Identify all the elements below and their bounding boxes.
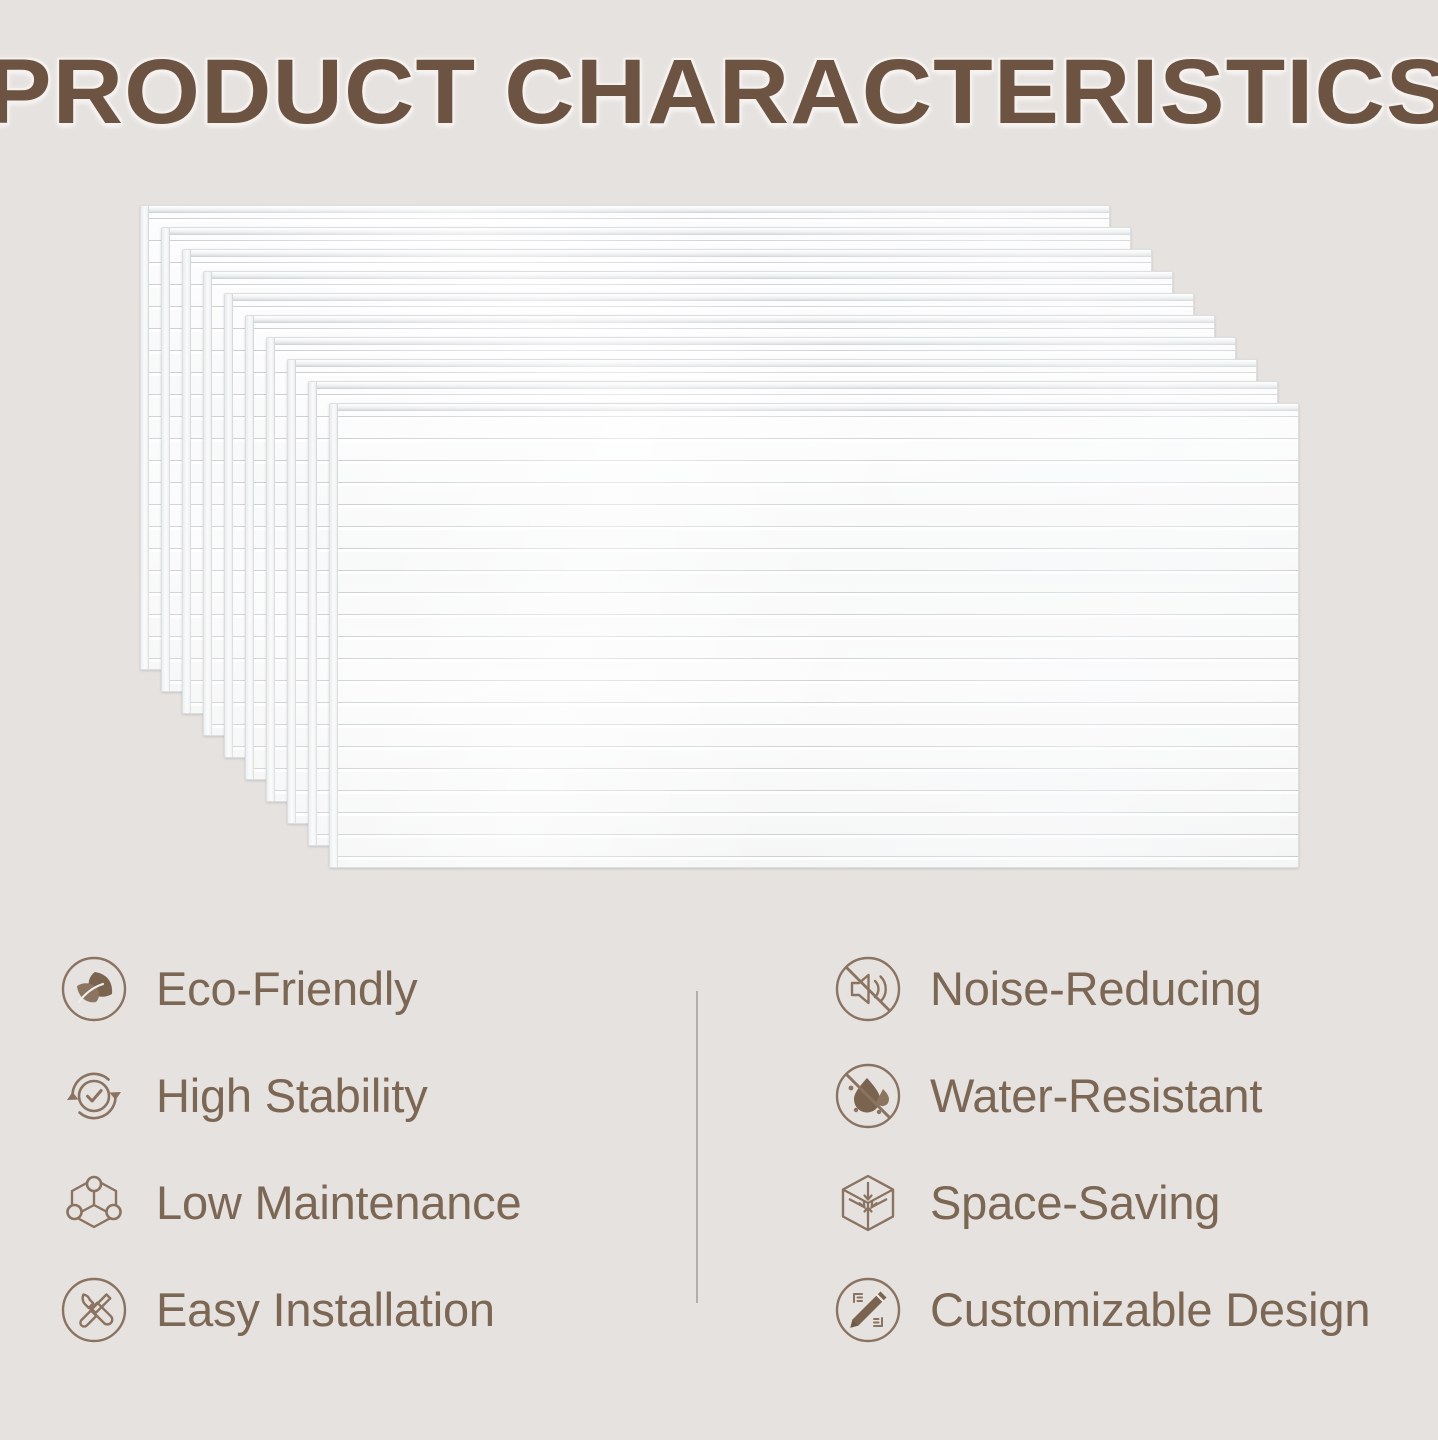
sheet-top-edge (246, 316, 1214, 323)
sheet-left-edge (330, 404, 338, 867)
tools-icon (58, 1274, 130, 1346)
sheet-top-edge (204, 272, 1172, 279)
feature-label: Low Maintenance (156, 1177, 521, 1229)
feature-item-high-stability: High Stability (58, 1042, 658, 1149)
product-image (0, 180, 1438, 880)
sheet-rib-texture (330, 404, 1298, 867)
product-sheet-front (329, 403, 1299, 868)
muted-speaker-icon (832, 953, 904, 1025)
molecule-icon (58, 1167, 130, 1239)
sheet-top-edge (141, 206, 1109, 213)
page-header: PRODUCT CHARACTERISTICS (0, 44, 1438, 140)
sheet-top-edge (183, 250, 1151, 257)
sheet-left-edge (267, 338, 275, 801)
sheet-left-edge (288, 360, 296, 823)
sheet-top-edge (288, 360, 1256, 367)
feature-label: Eco-Friendly (156, 963, 417, 1015)
feature-label: Noise-Reducing (930, 963, 1262, 1015)
sheet-stack (140, 205, 1300, 865)
feature-column-right: Noise-Reducing Water-Resistant (832, 935, 1432, 1363)
compress-cube-icon (832, 1167, 904, 1239)
feature-item-low-maintenance: Low Maintenance (58, 1149, 658, 1256)
no-water-drop-icon (832, 1060, 904, 1132)
feature-item-customizable-design: Customizable Design (832, 1256, 1432, 1363)
sheet-top-edge (267, 338, 1235, 345)
feature-item-noise-reducing: Noise-Reducing (832, 935, 1432, 1042)
leaf-icon (58, 953, 130, 1025)
feature-list: Eco-Friendly High Stability (0, 935, 1438, 1365)
feature-label: Easy Installation (156, 1284, 495, 1336)
sheet-left-edge (183, 250, 191, 713)
column-divider (696, 991, 698, 1303)
pencil-ruler-icon (832, 1274, 904, 1346)
sheet-left-edge (246, 316, 254, 779)
refresh-check-icon (58, 1060, 130, 1132)
feature-item-water-resistant: Water-Resistant (832, 1042, 1432, 1149)
sheet-left-edge (309, 382, 317, 845)
page-title: PRODUCT CHARACTERISTICS (0, 44, 1438, 140)
sheet-top-edge (309, 382, 1277, 389)
sheet-left-edge (204, 272, 212, 735)
sheet-left-edge (162, 228, 170, 691)
sheet-left-edge (225, 294, 233, 757)
sheet-top-edge (330, 404, 1298, 411)
feature-item-eco-friendly: Eco-Friendly (58, 935, 658, 1042)
feature-column-left: Eco-Friendly High Stability (58, 935, 658, 1363)
sheet-top-edge (225, 294, 1193, 301)
feature-label: Space-Saving (930, 1177, 1220, 1229)
feature-label: Customizable Design (930, 1284, 1370, 1336)
feature-label: Water-Resistant (930, 1070, 1262, 1122)
sheet-top-edge (162, 228, 1130, 235)
feature-item-space-saving: Space-Saving (832, 1149, 1432, 1256)
feature-item-easy-installation: Easy Installation (58, 1256, 658, 1363)
sheet-left-edge (141, 206, 149, 669)
feature-label: High Stability (156, 1070, 428, 1122)
